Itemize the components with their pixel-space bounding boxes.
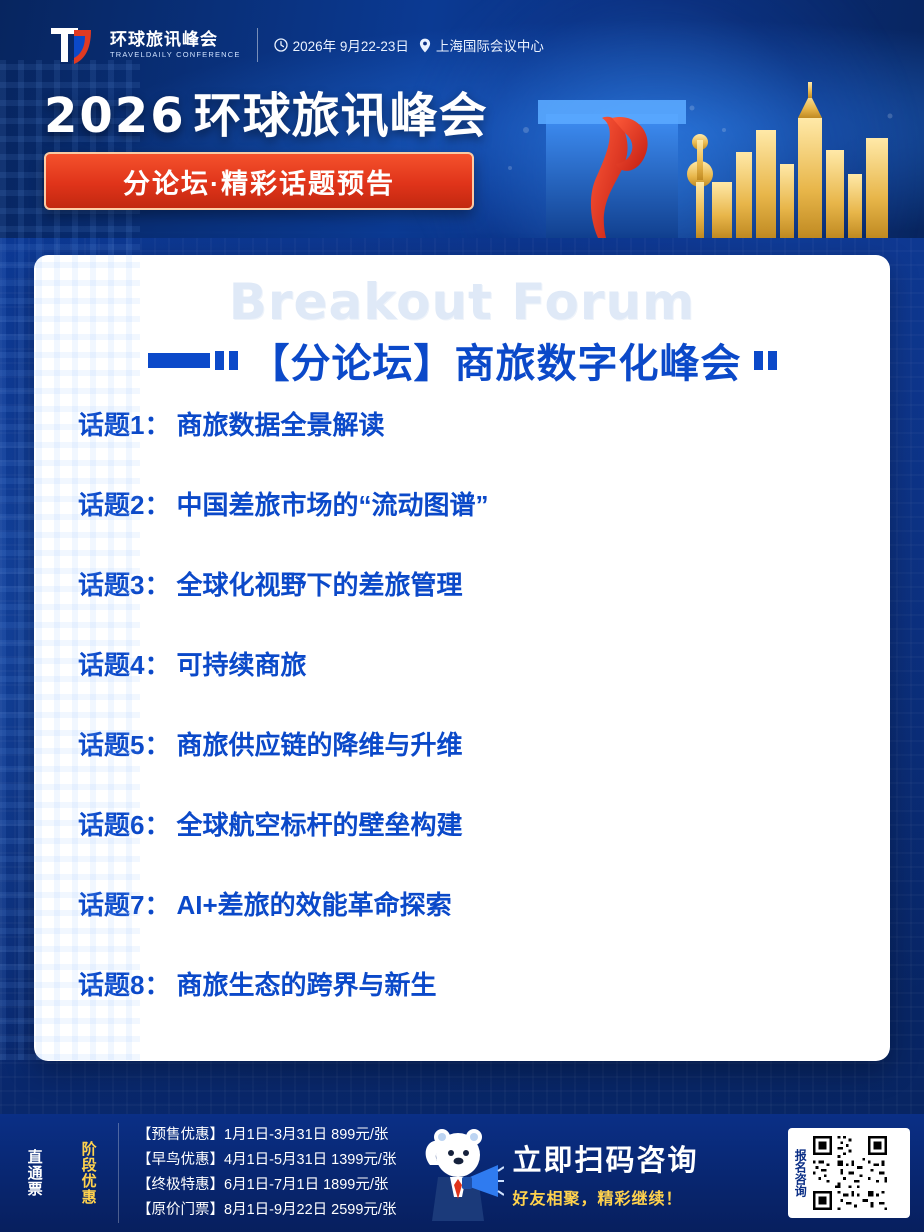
list-item: 话题1： 商旅数据全景解读 [78,405,860,485]
brand-logo-text: 环球旅讯峰会 TRAVELDAILY CONFERENCE [110,31,241,60]
title-decoration-right [754,351,777,370]
topic-text: 全球航空标杆的壁垒构建 [176,805,462,842]
shanghai-skyline-illustration [486,78,906,238]
traveldaily-logo-icon [48,24,94,66]
topic-text: 商旅数据全景解读 [176,405,384,442]
watermark-breakout-forum: Breakout Forum [34,273,890,331]
list-item: 话题4： 可持续商旅 [78,645,860,725]
topic-label: 话题1： [78,405,170,442]
price-row: 【预售优惠】1月1日-3月31日 899元/张 [137,1123,396,1148]
brand-name-en: TRAVELDAILY CONFERENCE [110,51,241,59]
poster-footer: 直通票 阶段优惠 【预售优惠】1月1日-3月31日 899元/张 【早鸟优惠】4… [0,1114,924,1232]
poster-header: 环球旅讯峰会 TRAVELDAILY CONFERENCE 2026年 9月22… [0,0,924,238]
topic-text: 商旅供应链的降维与升维 [176,725,462,762]
event-main-title: 2026环球旅讯峰会 [44,76,488,146]
brand-logo-row: 环球旅讯峰会 TRAVELDAILY CONFERENCE 2026年 9月22… [48,24,544,66]
topic-label: 话题6： [78,805,170,842]
topic-label: 话题5： [78,725,170,762]
cta-title: 立即扫码咨询 [512,1137,698,1179]
topic-text: 全球化视野下的差旅管理 [176,565,462,602]
event-title-main: 环球旅讯峰会 [194,88,488,144]
list-item: 话题8： 商旅生态的跨界与新生 [78,965,860,1045]
stage-discount-tag: 阶段优惠 [68,1125,108,1221]
mascot-bear-megaphone-icon [412,1121,504,1225]
list-item: 话题2： 中国差旅市场的“流动图谱” [78,485,860,565]
event-meta: 2026年 9月22-23日 上海国际会议中心 [274,35,544,55]
location-pin-icon [419,38,431,53]
forum-title-row: 【分论坛】商旅数字化峰会 [34,331,890,389]
event-date-text: 2026年 9月22-23日 [293,35,409,55]
topic-text: 中国差旅市场的“流动图谱” [176,485,488,522]
list-item: 话题3： 全球化视野下的差旅管理 [78,565,860,645]
cta-block: 立即扫码咨询 好友相聚，精彩继续！ [512,1137,698,1209]
topic-list: 话题1： 商旅数据全景解读 话题2： 中国差旅市场的“流动图谱” 话题3： 全球… [78,405,860,1045]
topic-label: 话题3： [78,565,170,602]
list-item: 话题5： 商旅供应链的降维与升维 [78,725,860,805]
logo-divider [257,28,258,62]
qr-signup-box[interactable]: 报名咨询 [788,1128,910,1218]
cta-subtitle: 好友相聚，精彩继续！ [512,1185,698,1209]
qr-label: 报名咨询 [793,1134,806,1212]
price-row: 【原价门票】8月1日-9月22日 2599元/张 [137,1198,396,1223]
price-row: 【终极特惠】6月1日-7月1日 1899元/张 [137,1173,396,1198]
list-item: 话题7： AI+差旅的效能革命探索 [78,885,860,965]
clock-icon [274,38,288,52]
event-title-year: 2026 [44,88,186,144]
topic-label: 话题4： [78,645,170,682]
topic-label: 话题8： [78,965,170,1002]
brand-name-cn: 环球旅讯峰会 [110,31,241,49]
poster-root: 环球旅讯峰会 TRAVELDAILY CONFERENCE 2026年 9月22… [0,0,924,1232]
topic-text: AI+差旅的效能革命探索 [176,885,451,922]
subtitle-ribbon: 分论坛·精彩话题预告 [44,152,474,210]
subtitle-ribbon-text: 分论坛·精彩话题预告 [123,162,395,201]
topic-label: 话题7： [78,885,170,922]
event-date: 2026年 9月22-23日 [274,35,409,55]
content-card: Breakout Forum 【分论坛】商旅数字化峰会 话题1： 商旅数据全景解… [34,255,890,1061]
price-list: 【预售优惠】1月1日-3月31日 899元/张 【早鸟优惠】4月1日-5月31日… [118,1123,396,1223]
qr-code-icon[interactable] [810,1133,890,1213]
title-decoration-left [148,351,238,370]
topic-text: 可持续商旅 [176,645,306,682]
forum-title: 【分论坛】商旅数字化峰会 [250,331,742,389]
list-item: 话题6： 全球航空标杆的壁垒构建 [78,805,860,885]
price-row: 【早鸟优惠】4月1日-5月31日 1399元/张 [137,1148,396,1173]
event-venue: 上海国际会议中心 [419,35,544,55]
ticket-direct-tag: 直通票 [14,1125,54,1221]
topic-label: 话题2： [78,485,170,522]
topic-text: 商旅生态的跨界与新生 [176,965,436,1002]
event-venue-text: 上海国际会议中心 [436,35,544,55]
